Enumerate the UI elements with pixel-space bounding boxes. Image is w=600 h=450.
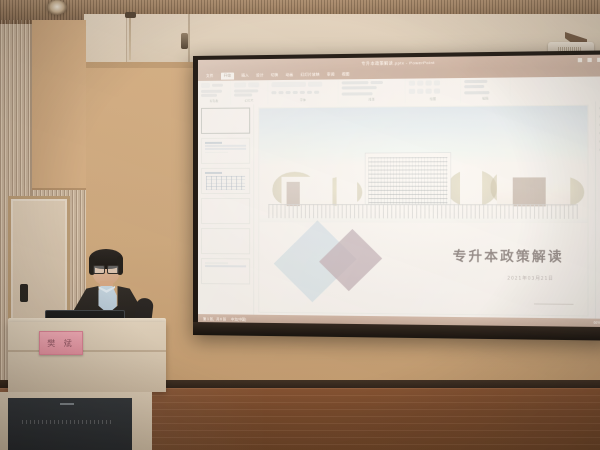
maximize-icon[interactable] [587, 58, 591, 62]
wall-fixture [181, 33, 188, 49]
photo-main-building [365, 153, 450, 204]
tab-home[interactable]: 开始 [221, 73, 235, 80]
slide-thumbnail-4[interactable] [201, 198, 250, 224]
ribbon-group-label: 段落 [342, 97, 402, 102]
tab-slideshow[interactable]: 幻灯片放映 [300, 73, 319, 78]
minimize-icon[interactable] [578, 58, 582, 62]
ribbon-group-label: 剪贴板 [201, 99, 227, 103]
lecture-hall-photo: 专升本政策解读.pptx - PowerPoint 文件 开始 插入 设计 切换… [0, 0, 600, 450]
ribbon-group-drawing[interactable]: 绘图 [406, 78, 461, 103]
podium-equipment-panel [8, 398, 132, 450]
vent-slits [22, 420, 114, 424]
ribbon-group-label: 字体 [271, 98, 334, 103]
slide-thumbnail-3[interactable] [201, 168, 250, 194]
slide-thumbnail-5[interactable] [201, 228, 250, 254]
slide-thumbnail-1[interactable] [201, 108, 250, 134]
photo-fence [269, 204, 578, 218]
podium-seam [8, 350, 166, 352]
name-card-text: 樊 斌 [47, 338, 75, 349]
slide-thumbnail-2[interactable] [201, 138, 250, 164]
ribbon-group-slides[interactable]: 幻灯片 [231, 80, 268, 105]
ribbon-group-label: 编辑 [464, 96, 506, 100]
name-card: 樊 斌 [39, 331, 83, 355]
slide-counter: 第 1 张，共 6 张 [203, 316, 226, 321]
ribbon-group-label: 幻灯片 [234, 98, 264, 102]
tab-design[interactable]: 设计 [256, 73, 264, 78]
zoom-level[interactable]: 66% [593, 321, 600, 325]
ribbon-group-paragraph[interactable]: 段落 [339, 79, 406, 104]
screen-mount-rod [129, 14, 131, 60]
ribbon-group-label: 绘图 [409, 97, 457, 102]
powerpoint-window[interactable]: 专升本政策解读.pptx - PowerPoint 文件 开始 插入 设计 切换… [198, 55, 600, 327]
glasses-icon [93, 265, 119, 272]
tab-insert[interactable]: 插入 [241, 73, 249, 78]
window-buttons[interactable] [578, 58, 600, 62]
right-scroll-rail[interactable] [595, 101, 600, 318]
door-handle[interactable] [20, 284, 28, 302]
document-title: 专升本政策解读.pptx - PowerPoint [361, 60, 434, 67]
slide-title: 专升本政策解读 [453, 246, 564, 266]
screen-mount-clamp [125, 12, 136, 18]
slide-photo [259, 106, 587, 223]
left-upper-wall-panel [32, 20, 86, 190]
wall-seam [188, 14, 190, 66]
tab-review[interactable]: 审阅 [327, 72, 335, 77]
ribbon-group-editing[interactable]: 编辑 [461, 77, 511, 102]
slide-date: 2021年03月21日 [507, 275, 554, 282]
podium [8, 322, 166, 392]
tab-transitions[interactable]: 切换 [271, 73, 279, 78]
tab-file[interactable]: 文件 [206, 74, 214, 79]
slide-editing-stage[interactable]: 专升本政策解读 2021年03月21日 [254, 101, 595, 318]
tab-view[interactable]: 视图 [342, 72, 350, 77]
ribbon-group-clipboard[interactable]: 剪贴板 [198, 81, 231, 105]
equipment-led [60, 403, 74, 405]
tab-animations[interactable]: 动画 [286, 73, 294, 78]
projection-screen: 专升本政策解读.pptx - PowerPoint 文件 开始 插入 设计 切换… [193, 50, 600, 340]
wall-divider [30, 20, 32, 196]
ribbon-group-font[interactable]: 字体 [268, 79, 338, 104]
screen-surface: 专升本政策解读.pptx - PowerPoint 文件 开始 插入 设计 切换… [198, 55, 600, 327]
ceiling-light-icon [47, 0, 67, 15]
slide-canvas[interactable]: 专升本政策解读 2021年03月21日 [259, 106, 587, 316]
slide-thumbnail-6[interactable] [201, 258, 250, 284]
slide-thumbnail-pane[interactable] [198, 104, 254, 314]
language-indicator[interactable]: 中文(中国) [231, 316, 246, 321]
wall-bulkhead [84, 14, 127, 66]
powerpoint-body: 专升本政策解读 2021年03月21日 [198, 101, 600, 318]
